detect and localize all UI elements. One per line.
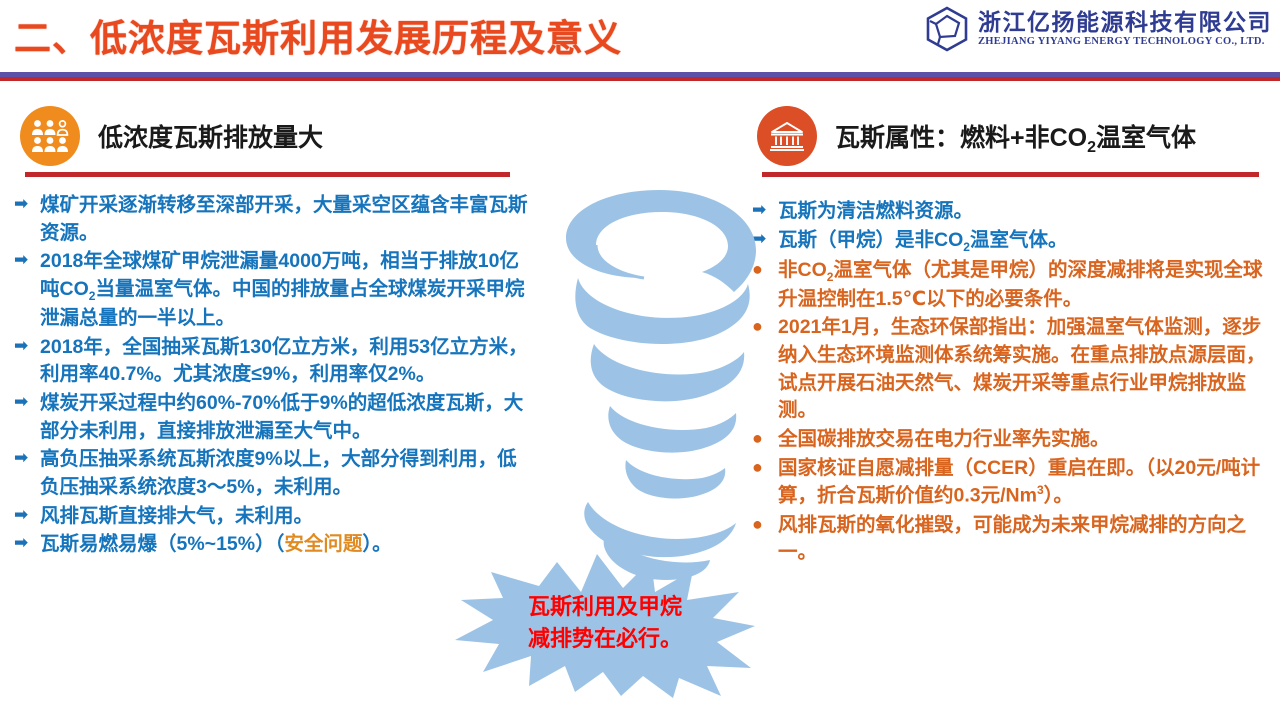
list-item-label: 瓦斯为清洁燃料资源。 [778,198,973,226]
slide-header: 二、低浓度瓦斯利用发展历程及意义 浙江亿扬能源科技有限公司 ZHEJIANG Y… [0,0,1280,80]
list-item: ●国家核证自愿减排量（CCER）重启在即。（以20元/吨计算，折合瓦斯价值约0.… [752,455,1272,511]
company-logo: 浙江亿扬能源科技有限公司 ZHEJIANG YIYANG ENERGY TECH… [925,6,1272,52]
list-item: ➡瓦斯（甲烷）是非CO2温室气体。 [752,227,1272,256]
list-item-label: 风排瓦斯的氧化摧毁，可能成为未来甲烷减排的方向之一。 [778,512,1272,567]
list-item-label: 2018年全球煤矿甲烷泄漏量4000万吨，相当于排放10亿吨CO2当量温室气体。… [40,248,534,332]
starburst-shape-icon [455,548,755,698]
bank-building-icon [757,106,817,166]
arrow-bullet-icon: ➡ [14,192,40,216]
header-rule-red [0,77,1280,81]
list-item: ●全国碳排放交易在电力行业率先实施。 [752,426,1272,454]
right-bullet-list: ➡瓦斯为清洁燃料资源。 ➡瓦斯（甲烷）是非CO2温室气体。 ●非CO2温室气体（… [752,198,1272,568]
company-name-cn: 浙江亿扬能源科技有限公司 [978,10,1272,36]
list-item-label: 瓦斯易燃易爆（5%~15%）（安全问题）。 [40,531,392,559]
list-item: ➡煤炭开采过程中约60%-70%低于9%的超低浓度瓦斯，大部分未利用，直接排放泄… [14,390,534,445]
list-item: ➡高负压抽采系统瓦斯浓度9%以上，大部分得到利用，低负压抽采系统浓度3～5%，未… [14,446,534,501]
page-title: 二、低浓度瓦斯利用发展历程及意义 [14,8,622,62]
list-item: ●2021年1月，生态环保部指出：加强温室气体监测，逐步纳入生态环境监测体系统筹… [752,314,1272,425]
list-item: ➡2018年全球煤矿甲烷泄漏量4000万吨，相当于排放10亿吨CO2当量温室气体… [14,248,534,332]
list-item: ●风排瓦斯的氧化摧毁，可能成为未来甲烷减排的方向之一。 [752,512,1272,567]
arrow-bullet-icon: ➡ [14,446,40,470]
company-name-en: ZHEJIANG YIYANG ENERGY TECHNOLOGY CO., L… [978,36,1272,49]
left-bullet-list: ➡煤矿开采逐渐转移至深部开采，大量采空区蕴含丰富瓦斯资源。 ➡2018年全球煤矿… [14,192,534,560]
list-item-label: 国家核证自愿减排量（CCER）重启在即。（以20元/吨计算，折合瓦斯价值约0.3… [778,455,1272,511]
hexagon-cube-logo-icon [925,6,969,52]
arrow-bullet-icon: ➡ [14,390,40,414]
callout-starburst: 瓦斯利用及甲烷 减排势在必行。 [455,548,755,698]
list-item-label: 全国碳排放交易在电力行业率先实施。 [778,426,1110,454]
list-item-label: 风排瓦斯直接排大气，未利用。 [40,503,313,531]
tornado-spiral-icon [548,182,778,582]
right-section-rule [762,172,1259,177]
list-item: ➡瓦斯为清洁燃料资源。 [752,198,1272,226]
list-item-label: 高负压抽采系统瓦斯浓度9%以上，大部分得到利用，低负压抽采系统浓度3～5%，未利… [40,446,534,501]
list-item-label: 2018年，全国抽采瓦斯130亿立方米，利用53亿立方米，利用率40.7%。尤其… [40,334,534,389]
list-item-label: 煤炭开采过程中约60%-70%低于9%的超低浓度瓦斯，大部分未利用，直接排放泄漏… [40,390,534,445]
slide: 二、低浓度瓦斯利用发展历程及意义 浙江亿扬能源科技有限公司 ZHEJIANG Y… [0,0,1280,720]
list-item: ➡风排瓦斯直接排大气，未利用。 [14,503,534,531]
list-item: ➡2018年，全国抽采瓦斯130亿立方米，利用53亿立方米，利用率40.7%。尤… [14,334,534,389]
list-item: ➡煤矿开采逐渐转移至深部开采，大量采空区蕴含丰富瓦斯资源。 [14,192,534,247]
left-section-title: 低浓度瓦斯排放量大 [98,118,323,154]
arrow-bullet-icon: ➡ [14,334,40,358]
list-item-label: 非CO2温室气体（尤其是甲烷）的深度减排将是实现全球升温控制在1.5℃以下的必要… [778,257,1272,314]
right-section-title-text: 瓦斯属性：燃料+非CO2温室气体 [835,124,1196,152]
arrow-bullet-icon: ➡ [14,503,40,527]
right-section-header: 瓦斯属性：燃料+非CO2温室气体 [757,106,1272,184]
left-section-header: 低浓度瓦斯排放量大 [20,106,540,184]
list-item-label: 煤矿开采逐渐转移至深部开采，大量采空区蕴含丰富瓦斯资源。 [40,192,534,247]
list-item: ●非CO2温室气体（尤其是甲烷）的深度减排将是实现全球升温控制在1.5℃以下的必… [752,257,1272,314]
people-group-icon [20,106,80,166]
arrow-bullet-icon: ➡ [14,531,40,555]
arrow-bullet-icon: ➡ [14,248,40,272]
list-item-label: 瓦斯（甲烷）是非CO2温室气体。 [778,227,1067,256]
left-section-rule [25,172,510,177]
list-item-label: 2021年1月，生态环保部指出：加强温室气体监测，逐步纳入生态环境监测体系统筹实… [778,314,1272,425]
right-section-title: 瓦斯属性：燃料+非CO2温室气体 [835,118,1196,157]
